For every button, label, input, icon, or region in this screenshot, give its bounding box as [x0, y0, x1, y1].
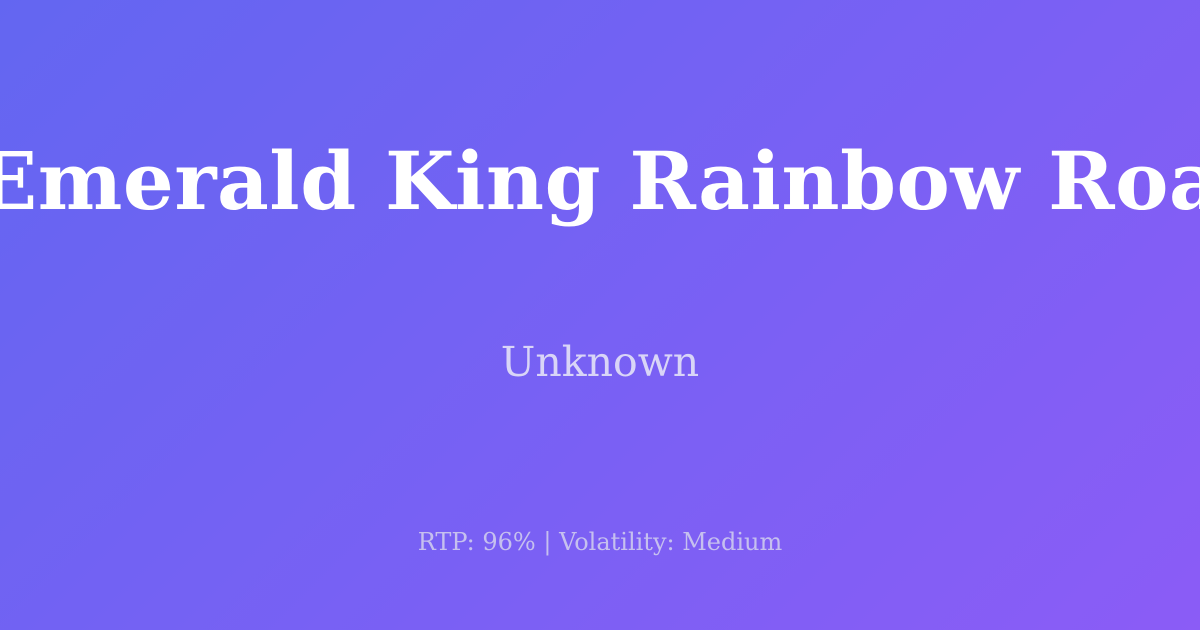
page-subtitle: Unknown [501, 338, 699, 387]
og-share-card: 1F B0 Emerald King Rainbow Road Unknown … [0, 0, 1200, 630]
hero-block: 1F B0 Emerald King Rainbow Road Unknown [0, 0, 1200, 470]
page-title: Emerald King Rainbow Road [0, 137, 1200, 227]
game-meta-line: RTP: 96% | Volatility: Medium [0, 528, 1200, 557]
title-row: 1F B0 Emerald King Rainbow Road [0, 83, 1200, 280]
